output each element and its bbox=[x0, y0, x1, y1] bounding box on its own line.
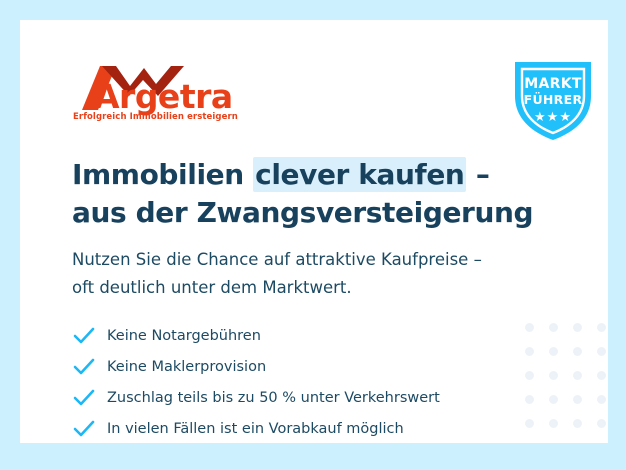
decorative-dot bbox=[573, 371, 582, 380]
decorative-dot bbox=[597, 347, 606, 356]
list-item-label: Keine Notargebühren bbox=[107, 328, 261, 344]
check-icon bbox=[72, 357, 96, 377]
list-item: In vielen Fällen ist ein Vorabkauf mögli… bbox=[72, 413, 542, 443]
check-icon bbox=[72, 419, 96, 439]
list-item: Zuschlag teils bis zu 50 % unter Verkehr… bbox=[72, 382, 542, 413]
decorative-dot bbox=[597, 419, 606, 428]
subtitle-line2: oft deutlich unter dem Marktwert. bbox=[72, 278, 352, 297]
decorative-dot bbox=[573, 419, 582, 428]
badge-line1: MARKT bbox=[507, 76, 599, 92]
subtitle-line1: Nutzen Sie die Chance auf attraktive Kau… bbox=[72, 250, 482, 269]
list-item-label: Zuschlag teils bis zu 50 % unter Verkehr… bbox=[107, 390, 440, 406]
list-item: Keine Maklerprovision bbox=[72, 351, 542, 382]
decorative-dot bbox=[549, 395, 558, 404]
subtitle: Nutzen Sie die Chance auf attraktive Kau… bbox=[72, 246, 572, 302]
list-item-label: In vielen Fällen ist ein Vorabkauf mögli… bbox=[107, 421, 404, 437]
headline-line1-before: Immobilien bbox=[72, 158, 253, 191]
decorative-dot bbox=[573, 323, 582, 332]
decorative-dot bbox=[549, 323, 558, 332]
decorative-dot bbox=[597, 323, 606, 332]
headline-line2: aus der Zwangsversteigerung bbox=[72, 196, 533, 229]
logo-tagline: Erfolgreich Immobilien ersteigern bbox=[73, 112, 238, 122]
list-item: Keine Notargebühren bbox=[72, 320, 542, 351]
decorative-dot bbox=[573, 347, 582, 356]
decorative-dot bbox=[549, 347, 558, 356]
check-icon bbox=[72, 326, 96, 346]
argetra-logo[interactable]: Argetra Erfolgreich Immobilien ersteiger… bbox=[72, 64, 232, 126]
decorative-dot bbox=[549, 419, 558, 428]
decorative-dot bbox=[597, 371, 606, 380]
markt-fuehrer-badge: MARKT FÜHRER ★★★ bbox=[507, 56, 599, 144]
decorative-dot bbox=[549, 371, 558, 380]
headline-highlight: clever kaufen bbox=[253, 157, 466, 192]
logo-wordmark: Argetra bbox=[94, 80, 233, 113]
benefits-list: Keine NotargebührenKeine Maklerprovision… bbox=[72, 320, 542, 443]
badge-stars: ★★★ bbox=[507, 110, 599, 125]
decorative-dot bbox=[597, 395, 606, 404]
promo-banner: Argetra Erfolgreich Immobilien ersteiger… bbox=[0, 0, 626, 470]
banner-card: Argetra Erfolgreich Immobilien ersteiger… bbox=[20, 20, 608, 443]
page-title: Immobilien clever kaufen – aus der Zwang… bbox=[72, 156, 572, 232]
decorative-dot bbox=[573, 395, 582, 404]
headline-line1-after: – bbox=[466, 158, 489, 191]
list-item-label: Keine Maklerprovision bbox=[107, 359, 266, 375]
badge-line2: FÜHRER bbox=[507, 92, 599, 107]
check-icon bbox=[72, 388, 96, 408]
